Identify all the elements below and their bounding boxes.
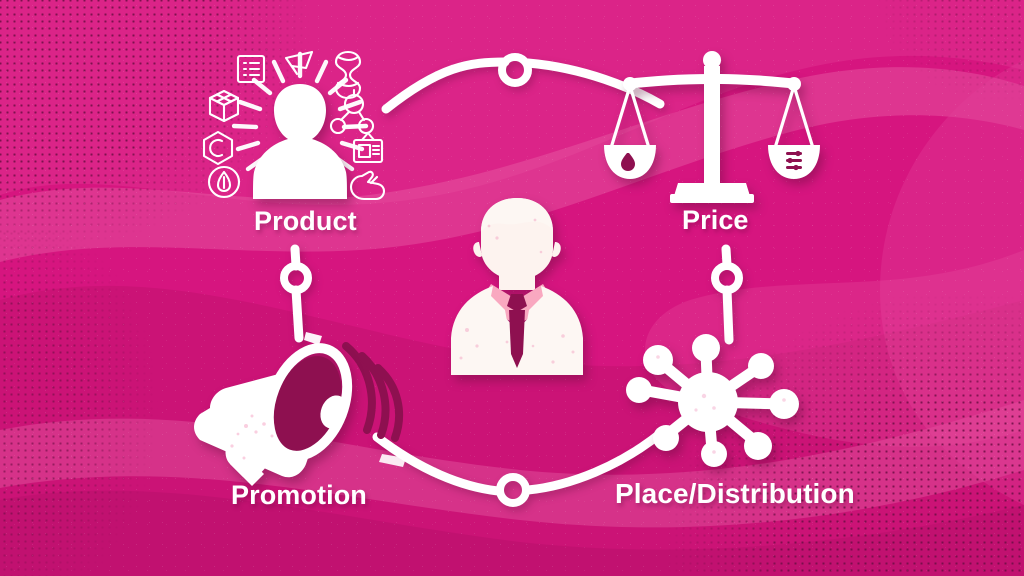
clipboard-badge-icon [354, 133, 382, 162]
label-price: Price [682, 205, 749, 236]
person-silhouette [253, 84, 347, 199]
hexagon-c-icon [204, 132, 232, 164]
businessman-head [473, 198, 561, 280]
label-promotion: Promotion [231, 480, 367, 511]
checklist-icon [238, 56, 264, 82]
connector-ring-bottom [500, 477, 526, 503]
businessman-neck [499, 272, 535, 290]
sound-waves [346, 346, 399, 438]
node-place[interactable] [618, 330, 818, 470]
connector-ring-right [715, 266, 739, 290]
connector-ring-left [284, 266, 308, 290]
knot-chain-icon [336, 52, 360, 98]
node-price[interactable] [608, 44, 818, 204]
center-businessman [437, 190, 597, 375]
megaphone-icon [194, 337, 362, 486]
hub-network-nodes [626, 334, 799, 467]
balance-scale-icon [604, 51, 820, 203]
node-product[interactable] [196, 36, 406, 201]
label-product: Product [254, 206, 357, 237]
hand-click-icon [351, 172, 384, 199]
box-3d-icon [210, 91, 238, 121]
coin-stack-icon [786, 151, 802, 170]
connector-ring-top [502, 57, 528, 83]
marketing-mix-infographic: Product [0, 0, 1024, 576]
node-promotion[interactable] [186, 328, 416, 488]
circle-bulb-icon [209, 167, 239, 197]
label-place: Place/Distribution [615, 478, 855, 510]
